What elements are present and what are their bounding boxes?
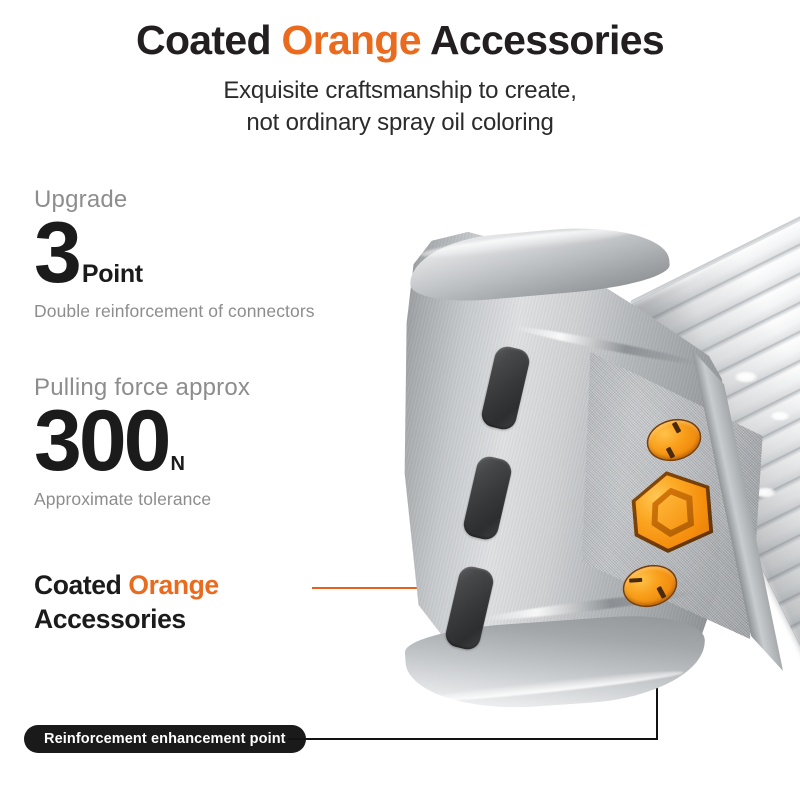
spec-number-upgrade: 3	[34, 214, 79, 294]
callout-accent-word: Orange	[128, 570, 218, 600]
product-image-snow-shovel-head	[330, 215, 800, 725]
spec-note-force: Approximate tolerance	[34, 489, 250, 510]
spec-number-force: 300	[34, 402, 169, 482]
subtitle-line-1: Exquisite craftsmanship to create,	[0, 75, 800, 107]
callout-line-2: Accessories	[34, 602, 219, 636]
subtitle-line-2: not ordinary spray oil coloring	[0, 107, 800, 139]
black-leader-line-horizontal	[288, 738, 658, 740]
spec-value-row-upgrade: 3 Point	[34, 214, 315, 294]
spec-unit-upgrade: Point	[82, 262, 143, 287]
spec-unit-force: N	[171, 454, 185, 474]
blade-highlight	[770, 411, 790, 421]
callout-line-1: Coated Orange	[34, 568, 219, 602]
spec-value-row-force: 300 N	[34, 402, 250, 482]
callout-coated-orange-accessories: Coated Orange Accessories	[34, 568, 219, 636]
subtitle: Exquisite craftsmanship to create, not o…	[0, 75, 800, 138]
status-badge-reinforcement-point: Reinforcement enhancement point	[24, 725, 306, 753]
blade-highlight	[734, 371, 758, 383]
rivet-notch	[672, 421, 682, 433]
spec-block-upgrade: Upgrade 3 Point Double reinforcement of …	[34, 188, 315, 322]
title-part-1: Coated	[136, 17, 281, 63]
title-accent-word: Orange	[282, 17, 421, 63]
rivet-notch	[656, 586, 666, 599]
product-infographic: Coated Orange Accessories Exquisite craf…	[0, 0, 800, 800]
callout-line1-part1: Coated	[34, 570, 128, 600]
metallic-handle-body	[402, 229, 732, 699]
spec-block-pulling-force: Pulling force approx 300 N Approximate t…	[34, 376, 250, 510]
rivet-notch	[666, 447, 676, 459]
rivet-notch	[629, 578, 642, 583]
page-title: Coated Orange Accessories	[0, 18, 800, 62]
title-part-2: Accessories	[421, 17, 664, 63]
header: Coated Orange Accessories Exquisite craf…	[0, 18, 800, 139]
spec-note-upgrade: Double reinforcement of connectors	[34, 301, 315, 322]
status-badge-label: Reinforcement enhancement point	[44, 731, 286, 747]
